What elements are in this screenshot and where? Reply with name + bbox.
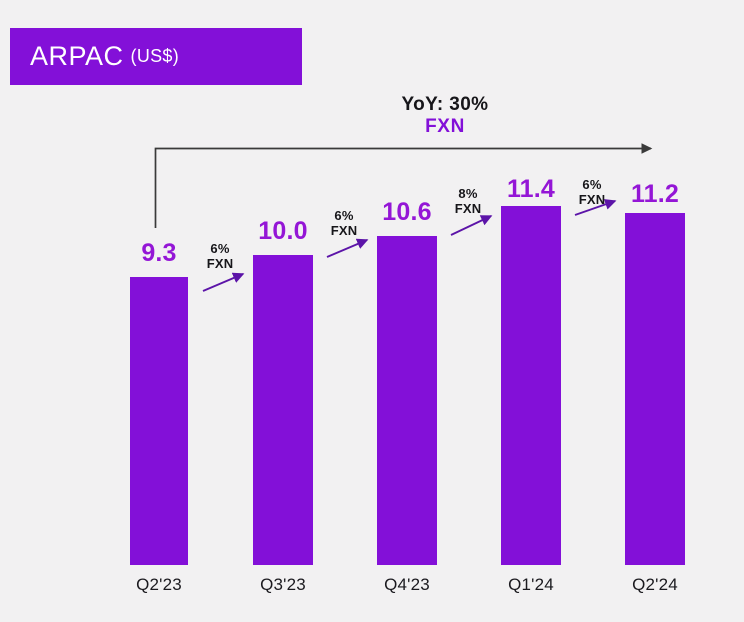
chart-canvas: ARPAC (US$) YoY: 30% FXN [0,0,744,622]
category-label-q4-23: Q4'23 [367,575,447,595]
step-annotation-2: 6% FXN [314,208,374,239]
step-pct-1: 6% [190,241,250,256]
yoy-basis-label: FXN [300,116,590,138]
bar-value-q4-23: 10.6 [367,198,447,227]
bar-q1-24[interactable] [501,206,561,565]
step-pct-3: 8% [438,186,498,201]
step-annotation-4: 6% FXN [562,177,622,208]
yoy-annotation: YoY: 30% FXN [300,94,590,139]
step-annotation-1: 6% FXN [190,241,250,272]
step-basis-2: FXN [314,223,374,238]
step-pct-4: 6% [562,177,622,192]
bar-value-q3-23: 10.0 [243,217,323,246]
step-basis-4: FXN [562,192,622,207]
step-pct-2: 6% [314,208,374,223]
bar-q4-23[interactable] [377,236,437,565]
step-arrow-1-icon [203,274,243,291]
title-banner: ARPAC (US$) [10,28,302,85]
step-basis-3: FXN [438,201,498,216]
bar-q2-23[interactable] [130,277,188,565]
title-unit-label: (US$) [131,46,180,67]
bar-q2-24[interactable] [625,213,685,565]
category-label-q3-23: Q3'23 [243,575,323,595]
page-title: ARPAC [30,41,124,72]
bar-value-q1-24: 11.4 [491,175,571,204]
category-label-q1-24: Q1'24 [491,575,571,595]
category-label-q2-23: Q2'23 [119,575,199,595]
step-annotation-3: 8% FXN [438,186,498,217]
yoy-value-label: YoY: 30% [300,94,590,116]
step-basis-1: FXN [190,256,250,271]
bar-q3-23[interactable] [253,255,313,565]
step-arrow-2-icon [327,240,367,257]
step-arrow-3-icon [451,216,491,235]
bar-value-q2-23: 9.3 [119,239,199,268]
category-label-q2-24: Q2'24 [615,575,695,595]
bar-value-q2-24: 11.2 [615,180,695,209]
